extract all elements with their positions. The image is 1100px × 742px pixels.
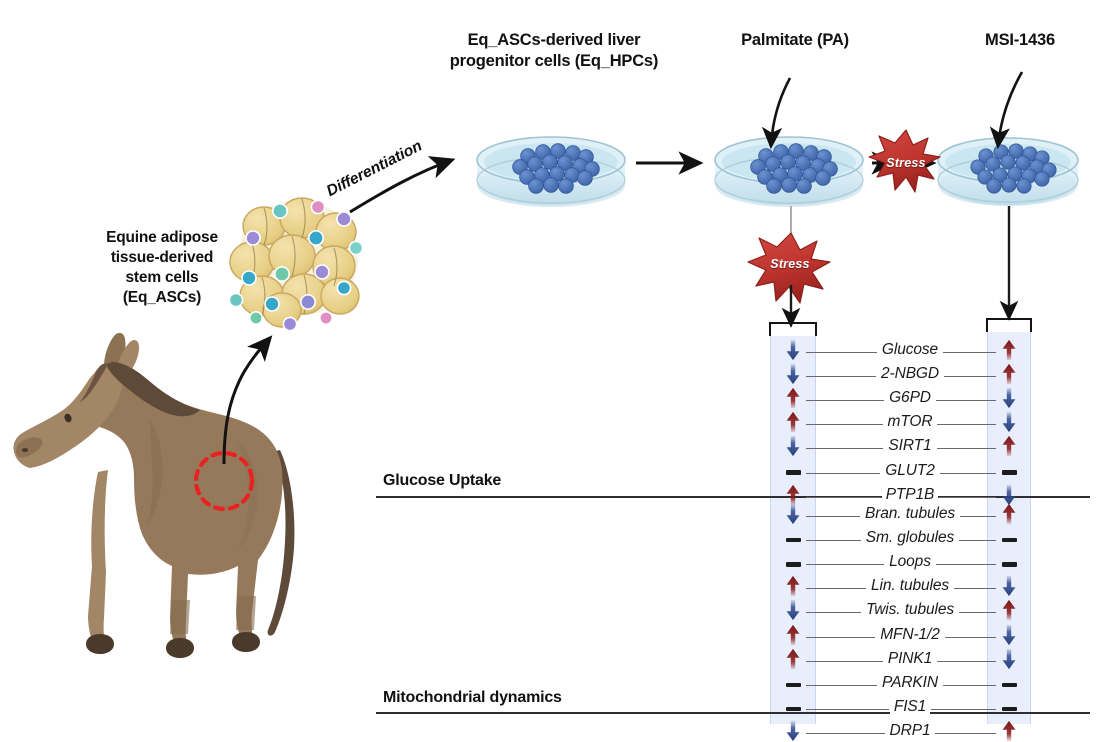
stress-badge-horizontal-text: Stress xyxy=(886,156,925,170)
marker-row-sirt1-pa-down-arrow-icon xyxy=(782,435,804,457)
marker-row-g6pd-leader-right xyxy=(936,400,996,401)
marker-row-loops-leader-right xyxy=(936,564,996,565)
marker-row-drp1-pa-down-arrow-icon xyxy=(782,720,804,742)
marker-row-drp1-label: DRP1 xyxy=(886,722,935,740)
marker-row-parkin-leader-right xyxy=(943,685,996,686)
marker-row-sm-globules-pa-no-change-icon xyxy=(786,538,801,543)
marker-row-2-nbgd-label: 2-NBGD xyxy=(877,365,943,383)
marker-row-lin-tubules-msi-down-arrow-icon xyxy=(998,575,1020,597)
marker-row-loops-pa-no-change-icon xyxy=(786,562,801,567)
marker-row-lin-tubules-label: Lin. tubules xyxy=(867,577,953,595)
marker-row-2-nbgd-leader-left xyxy=(806,376,876,377)
marker-row-glut2-pa-no-change-icon xyxy=(786,470,801,475)
marker-row-g6pd-label: G6PD xyxy=(885,389,935,407)
marker-row-sm-globules-msi-no-change-icon xyxy=(1002,538,1017,543)
marker-row-pink1-label: PINK1 xyxy=(884,650,936,668)
marker-row-g6pd-pa-up-arrow-icon xyxy=(782,387,804,409)
marker-row-ptp1b-leader-right xyxy=(939,497,996,498)
marker-row-sirt1-leader-right xyxy=(937,448,996,449)
marker-row-drp1-leader-left xyxy=(806,733,885,734)
marker-row-twis-tubules-label: Twis. tubules xyxy=(862,601,958,619)
marker-row-sirt1-label: SIRT1 xyxy=(884,437,935,455)
marker-row-mtor-msi-down-arrow-icon xyxy=(998,411,1020,433)
marker-row-g6pd-leader-left xyxy=(806,400,884,401)
marker-row-glut2-leader-left xyxy=(806,473,880,474)
marker-row-pink1-msi-down-arrow-icon xyxy=(998,648,1020,670)
marker-row-parkin-leader-left xyxy=(806,685,877,686)
marker-row-mfn-1-2-label: MFN-1/2 xyxy=(876,626,944,644)
marker-row-mtor-leader-left xyxy=(806,424,883,425)
figure-canvas: Eq_ASCs-derived liver progenitor cells (… xyxy=(0,0,1100,724)
marker-row-sm-globules-leader-left xyxy=(806,540,861,541)
marker-row-loops-label: Loops xyxy=(885,553,935,571)
marker-row-2-nbgd-leader-right xyxy=(944,376,996,377)
marker-row-parkin-label: PARKIN xyxy=(878,674,942,692)
marker-row-glucose-leader-right xyxy=(943,352,996,353)
marker-row-glut2-label: GLUT2 xyxy=(881,462,938,480)
marker-row-twis-tubules-pa-down-arrow-icon xyxy=(782,599,804,621)
marker-row-glucose-pa-down-arrow-icon xyxy=(782,339,804,361)
marker-row-bran-tubules-leader-right xyxy=(960,516,996,517)
marker-row-mfn-1-2-pa-up-arrow-icon xyxy=(782,624,804,646)
marker-row-loops-msi-no-change-icon xyxy=(1002,562,1017,567)
marker-row-loops-leader-left xyxy=(806,564,884,565)
marker-row-lin-tubules-pa-up-arrow-icon xyxy=(782,575,804,597)
marker-row-sirt1-leader-left xyxy=(806,448,883,449)
marker-row-glucose-msi-up-arrow-icon xyxy=(998,339,1020,361)
marker-row-mfn-1-2-leader-left xyxy=(806,637,875,638)
marker-row-mfn-1-2-msi-down-arrow-icon xyxy=(998,624,1020,646)
marker-row-twis-tubules-leader-left xyxy=(806,612,861,613)
marker-row-twis-tubules-leader-right xyxy=(959,612,996,613)
marker-row-ptp1b-label: PTP1B xyxy=(882,486,939,504)
marker-row-sm-globules-leader-right xyxy=(959,540,996,541)
marker-row-pink1-leader-right xyxy=(937,661,996,662)
marker-row-glut2-leader-right xyxy=(940,473,996,474)
marker-row-glucose-leader-left xyxy=(806,352,877,353)
marker-row-glucose-label: Glucose xyxy=(878,341,942,359)
marker-row-sm-globules-label: Sm. globules xyxy=(862,529,958,547)
marker-row-bran-tubules-leader-left xyxy=(806,516,860,517)
marker-row-fis1-leader-right xyxy=(931,709,996,710)
marker-row-lin-tubules-leader-left xyxy=(806,588,866,589)
marker-rows-layer: Glucose2-NBGDG6PDmTORSIRT1GLUT2PTP1BBran… xyxy=(0,0,1100,724)
marker-row-fis1-leader-left xyxy=(806,709,889,710)
marker-row-ptp1b-leader-left xyxy=(806,497,881,498)
marker-row-2-nbgd-msi-up-arrow-icon xyxy=(998,363,1020,385)
marker-row-fis1-pa-no-change-icon xyxy=(786,707,801,712)
marker-row-sirt1-msi-up-arrow-icon xyxy=(998,435,1020,457)
marker-row-mfn-1-2-leader-right xyxy=(945,637,996,638)
marker-row-mtor-leader-right xyxy=(937,424,996,425)
marker-row-twis-tubules-msi-up-arrow-icon xyxy=(998,599,1020,621)
marker-row-bran-tubules-msi-up-arrow-icon xyxy=(998,503,1020,525)
marker-row-mtor-label: mTOR xyxy=(884,413,937,431)
marker-row-lin-tubules-leader-right xyxy=(954,588,996,589)
marker-row-bran-tubules-label: Bran. tubules xyxy=(861,505,959,523)
marker-row-glut2-msi-no-change-icon xyxy=(1002,470,1017,475)
marker-row-mtor-pa-up-arrow-icon xyxy=(782,411,804,433)
marker-row-2-nbgd-pa-down-arrow-icon xyxy=(782,363,804,385)
marker-row-fis1-label: FIS1 xyxy=(890,698,930,716)
marker-row-g6pd-msi-down-arrow-icon xyxy=(998,387,1020,409)
marker-row-parkin-pa-no-change-icon xyxy=(786,683,801,688)
marker-row-drp1-msi-up-arrow-icon xyxy=(998,720,1020,742)
marker-row-parkin-msi-no-change-icon xyxy=(1002,683,1017,688)
marker-row-bran-tubules-pa-down-arrow-icon xyxy=(782,503,804,525)
marker-row-fis1-msi-no-change-icon xyxy=(1002,707,1017,712)
marker-row-pink1-leader-left xyxy=(806,661,883,662)
stress-badge-vertical-text: Stress xyxy=(770,257,809,271)
marker-row-pink1-pa-up-arrow-icon xyxy=(782,648,804,670)
marker-row-drp1-leader-right xyxy=(935,733,996,734)
